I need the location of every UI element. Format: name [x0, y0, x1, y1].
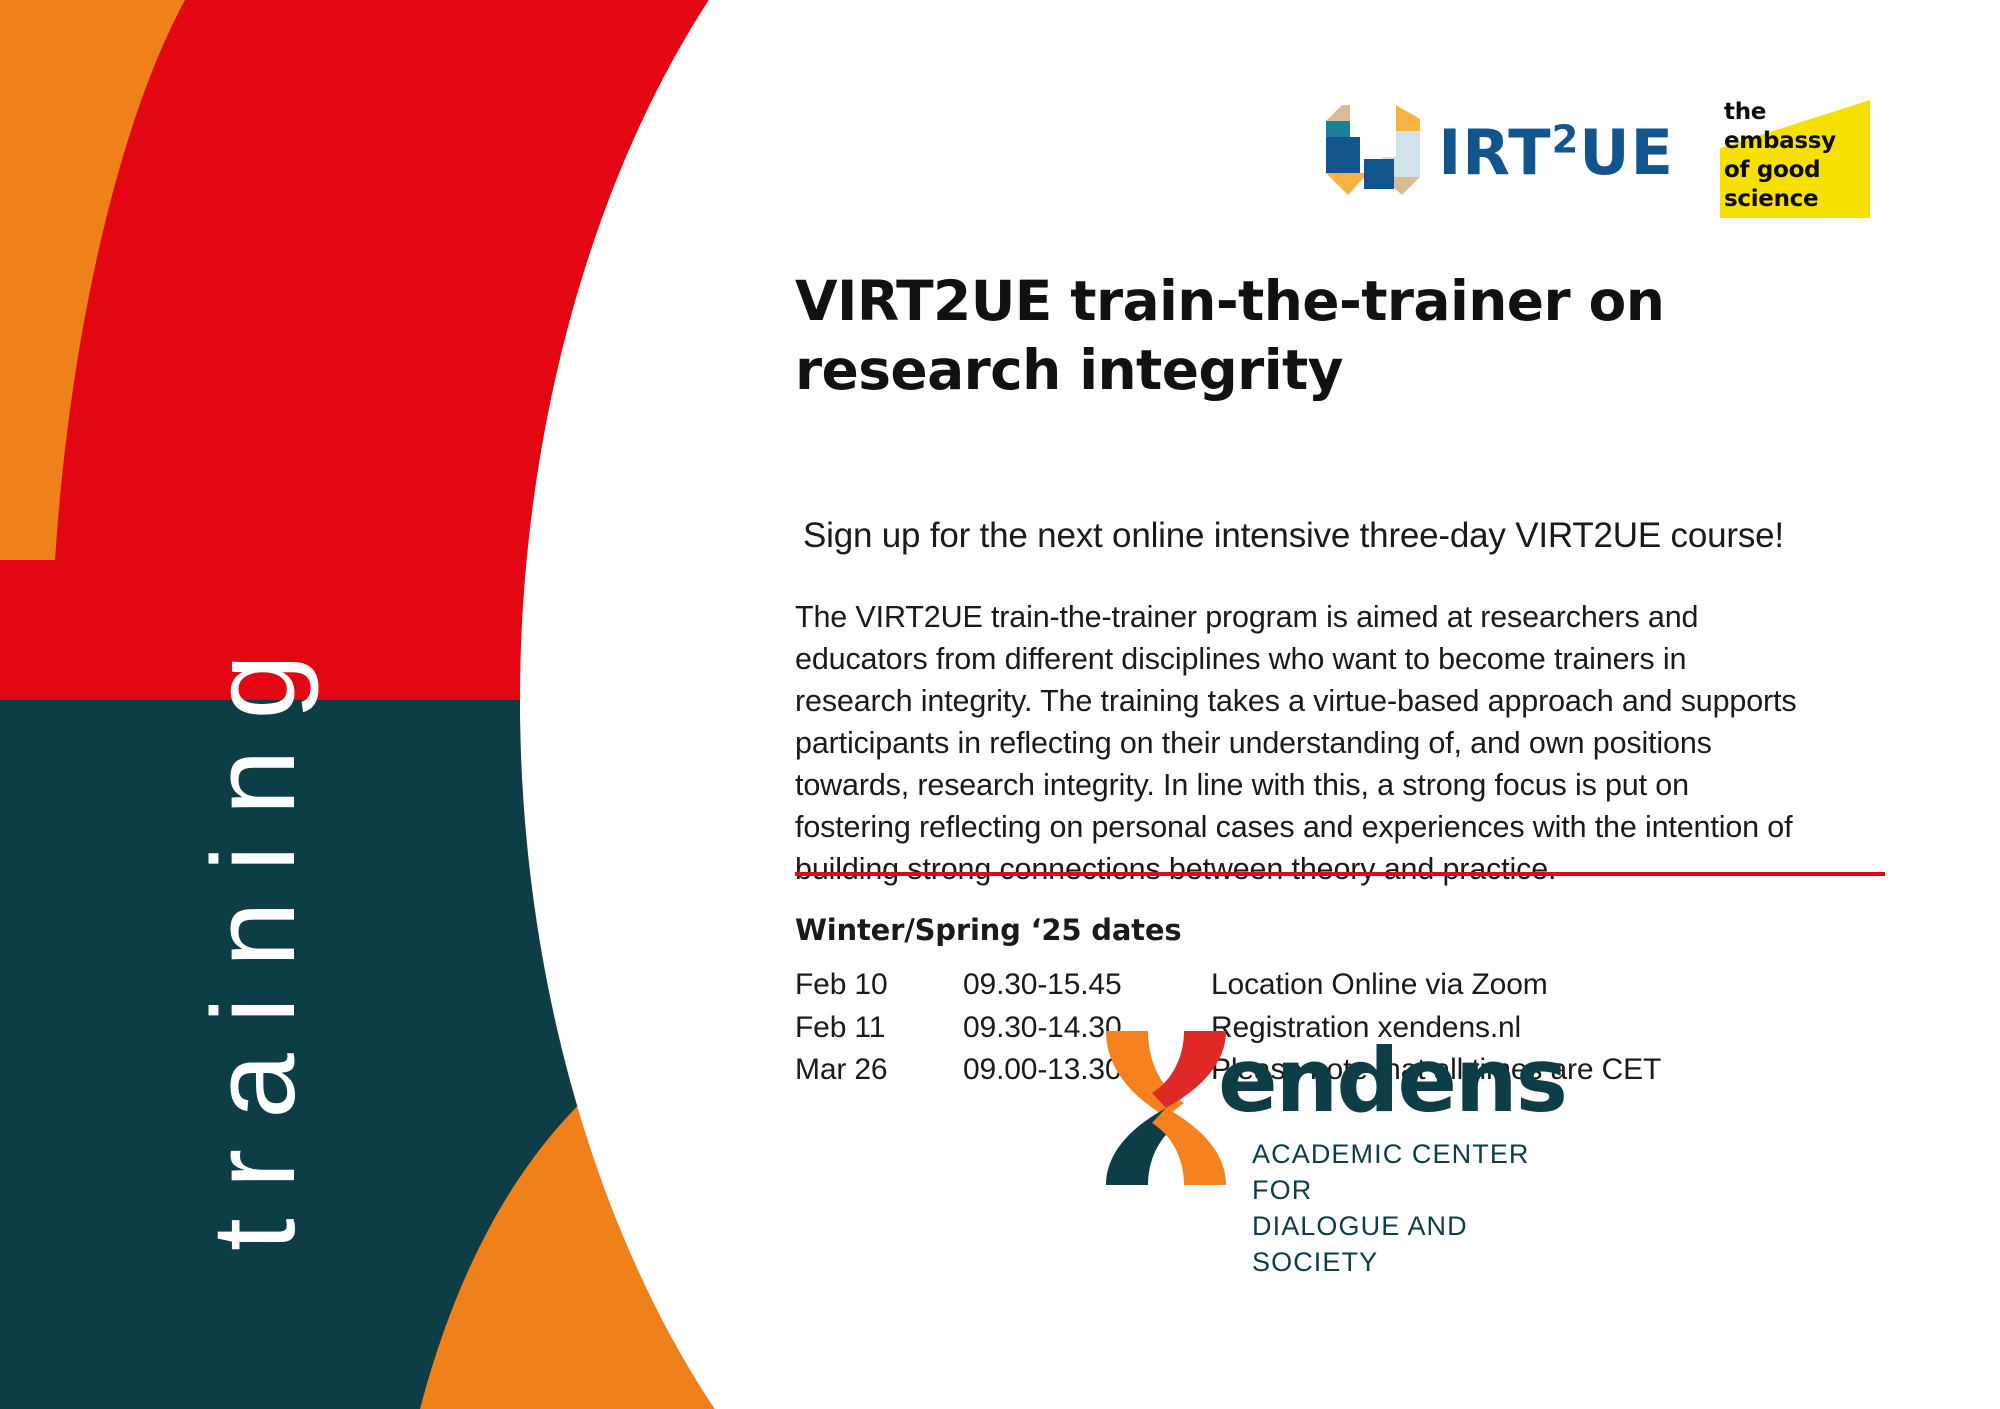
- schedule-date: Mar 26: [795, 1049, 963, 1092]
- xendens-logo: endens ACADEMIC CENTER FOR DIALOGUE AND …: [1100, 1025, 1565, 1215]
- schedule-date: Feb 11: [795, 1007, 963, 1050]
- xendens-x-mark-icon: [1100, 1025, 1232, 1191]
- virt2ue-wordmark-post: UE: [1579, 116, 1674, 189]
- embassy-logo-text: the embassy of good science: [1724, 98, 1836, 214]
- xendens-wordmark: endens: [1218, 1037, 1566, 1125]
- xendens-tagline: ACADEMIC CENTER FOR DIALOGUE AND SOCIETY: [1252, 1137, 1565, 1281]
- virt2ue-wordmark: IRT2UE: [1438, 122, 1674, 184]
- embassy-line-4: science: [1724, 185, 1836, 214]
- body-paragraph: The VIRT2UE train-the-trainer program is…: [795, 596, 1805, 891]
- embassy-line-3: of good: [1724, 156, 1836, 185]
- virt2ue-logo: IRT2UE: [1320, 100, 1674, 198]
- table-row: Feb 10 09.30-15.45 Location Online via Z…: [795, 964, 1905, 1007]
- logo-row: IRT2UE the embassy of good science: [1320, 100, 1870, 218]
- the-embassy-of-good-science-logo: the embassy of good science: [1720, 100, 1870, 218]
- red-divider: [795, 872, 1885, 876]
- subtitle: Sign up for the next online intensive th…: [803, 513, 1903, 559]
- virt2ue-wordmark-pre: IRT: [1438, 116, 1551, 189]
- schedule-title: Winter/Spring ‘25 dates: [795, 913, 1905, 947]
- virt2ue-wordmark-superscript: 2: [1552, 117, 1580, 162]
- embassy-line-2: embassy: [1724, 127, 1836, 156]
- xendens-tagline-line-2: DIALOGUE AND SOCIETY: [1252, 1209, 1565, 1281]
- schedule-time: 09.30-15.45: [963, 964, 1211, 1007]
- schedule-date: Feb 10: [795, 964, 963, 1007]
- page-title: VIRT2UE train-the-trainer on research in…: [795, 267, 1875, 406]
- schedule-note: Location Online via Zoom: [1211, 964, 1905, 1007]
- xendens-tagline-line-1: ACADEMIC CENTER FOR: [1252, 1137, 1565, 1209]
- virt2ue-v-mark-icon: [1320, 101, 1428, 197]
- poster-canvas: training: [0, 0, 2000, 1409]
- embassy-line-1: the: [1724, 98, 1836, 127]
- training-side-label-text: training: [195, 624, 313, 1251]
- content-column: IRT2UE the embassy of good science VIRT2…: [795, 0, 1940, 1409]
